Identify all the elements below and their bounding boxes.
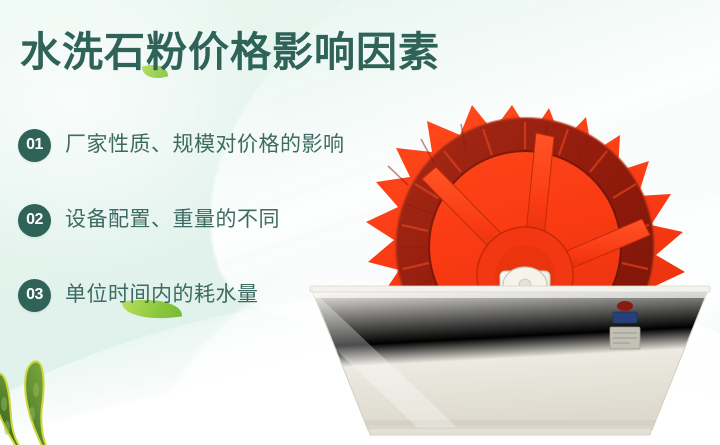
plant-decoration <box>0 330 132 445</box>
list-item-badge: 01 <box>18 129 51 162</box>
tank-body <box>310 286 710 435</box>
promo-banner: 水洗石粉价格影响因素 01 厂家性质、规模对价格的影响 02 设备配置、重量的不… <box>0 0 720 445</box>
feature-list: 01 厂家性质、规模对价格的影响 02 设备配置、重量的不同 03 单位时间内的… <box>18 126 345 314</box>
list-item-badge: 02 <box>18 204 51 237</box>
list-item: 03 单位时间内的耗水量 <box>18 276 345 314</box>
snake-plant-leaves <box>0 362 48 445</box>
sand-washing-machine-illustration <box>300 95 720 445</box>
list-item: 02 设备配置、重量的不同 <box>18 201 345 239</box>
page-title: 水洗石粉价格影响因素 <box>20 27 440 77</box>
list-item-badge: 03 <box>18 279 51 312</box>
list-item-label: 单位时间内的耗水量 <box>65 282 259 308</box>
list-item-label: 设备配置、重量的不同 <box>65 207 280 233</box>
list-item: 01 厂家性质、规模对价格的影响 <box>18 126 345 164</box>
list-item-label: 厂家性质、规模对价格的影响 <box>65 132 345 158</box>
